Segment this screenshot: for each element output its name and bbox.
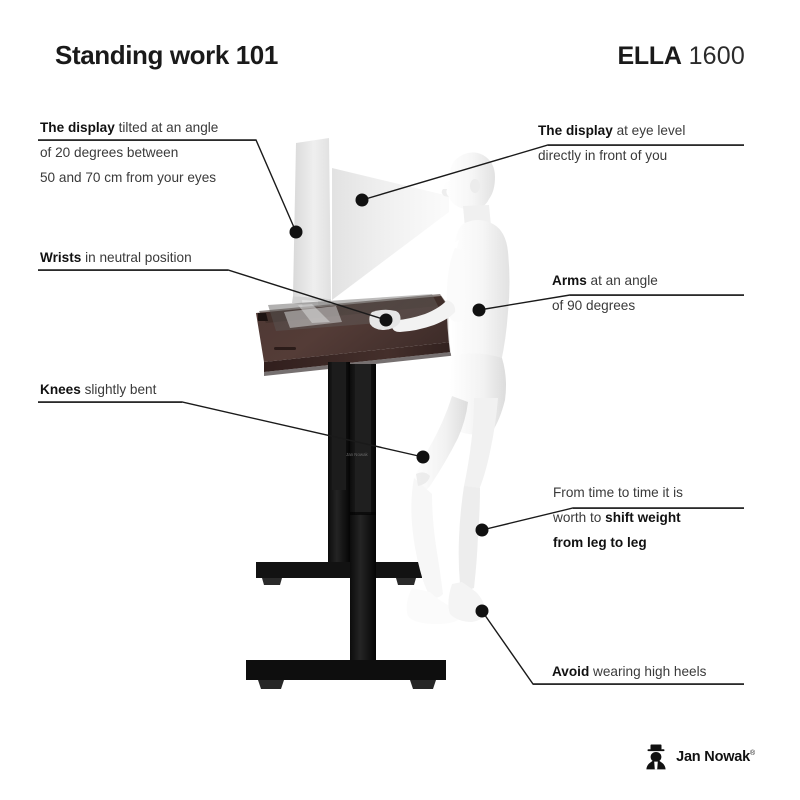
- callout-line: Avoid wearing high heels: [552, 659, 706, 684]
- callout-line: directly in front of you: [538, 143, 685, 168]
- footer-logo-text: Jan Nowak®: [676, 749, 755, 765]
- dot-knees: [417, 451, 430, 464]
- dot-display-eye-level: [356, 194, 369, 207]
- jan-nowak-mark-icon: [645, 744, 667, 770]
- callout-line: from leg to leg: [553, 530, 683, 555]
- dot-high-heels: [476, 605, 489, 618]
- rule-shift-weight: [573, 508, 744, 509]
- callout-line: Knees slightly bent: [40, 377, 156, 402]
- footer-logo: Jan Nowak®: [645, 744, 755, 770]
- rule-wrists: [38, 270, 228, 271]
- callout-knees: Knees slightly bent: [40, 377, 156, 402]
- callout-wrists: Wrists in neutral position: [40, 245, 192, 270]
- callout-line: 50 and 70 cm from your eyes: [40, 165, 218, 190]
- callout-display-tilt: The display tilted at an angle of 20 deg…: [40, 115, 218, 190]
- rule-display-tilt: [38, 140, 256, 141]
- callout-line: of 20 degrees between: [40, 140, 218, 165]
- callout-high-heels: Avoid wearing high heels: [552, 659, 706, 684]
- infographic-canvas: Standing work 101 ELLA 1600: [0, 0, 800, 800]
- footer-logo-name: Jan Nowak: [676, 749, 750, 765]
- callout-line: From time to time it is: [553, 480, 683, 505]
- rule-arms: [570, 295, 744, 296]
- callout-line: The display tilted at an angle: [40, 115, 218, 140]
- desk-frame-rear: [256, 362, 422, 585]
- callout-shift-weight: From time to time it is worth to shift w…: [553, 480, 683, 555]
- callout-line: The display at eye level: [538, 118, 685, 143]
- callout-arms: Arms at an angle of 90 degrees: [552, 268, 658, 318]
- callout-line: of 90 degrees: [552, 293, 658, 318]
- callout-display-eye-level: The display at eye level directly in fro…: [538, 118, 685, 168]
- rule-display-eye-level: [548, 145, 744, 146]
- dot-shift-weight: [476, 524, 489, 537]
- dot-wrists: [380, 314, 393, 327]
- dot-display-tilt: [290, 226, 303, 239]
- callout-line: Arms at an angle: [552, 268, 658, 293]
- sight-line-cone: [332, 168, 449, 300]
- footer-logo-registered: ®: [750, 750, 755, 757]
- callout-line: Wrists in neutral position: [40, 245, 192, 270]
- rule-high-heels: [533, 684, 744, 685]
- dot-arms: [473, 304, 486, 317]
- frame-brand-label: Jan Nowak: [346, 452, 369, 457]
- rule-knees: [38, 402, 182, 403]
- desk: [256, 294, 470, 376]
